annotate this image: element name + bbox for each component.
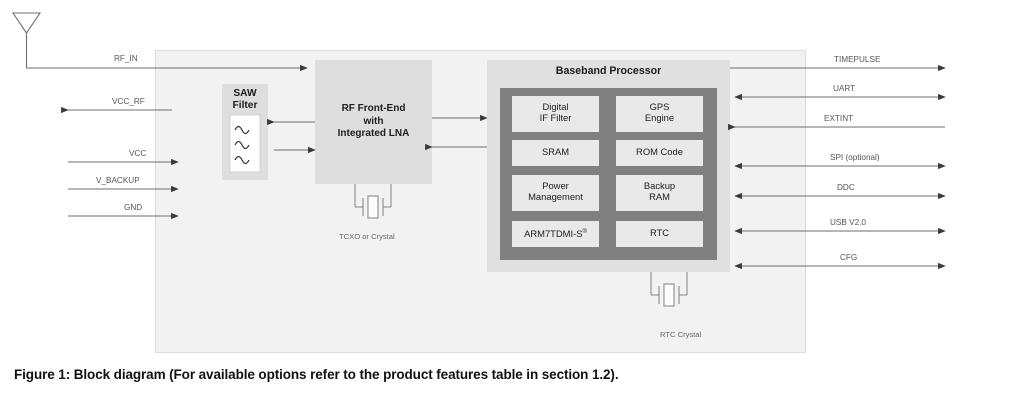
signal-label-spi: SPI (optional)	[830, 153, 880, 162]
subblock-line1: ARM7TDMI-S	[524, 228, 582, 239]
subblock-label-gps-engine: GPS Engine	[616, 101, 703, 123]
subblock-line1: ROM Code	[616, 146, 703, 157]
signal-label-vcc-rf: VCC_RF	[112, 97, 145, 106]
subblock-label-power-management: Power Management	[510, 180, 601, 202]
saw-filter-label: SAW Filter	[222, 88, 268, 112]
subblock-line1: Backup	[616, 180, 703, 191]
rf-frontend-line1: RF Front-End	[315, 103, 432, 116]
rf-frontend-line2: with	[315, 116, 432, 129]
subblock-line2: Engine	[616, 112, 703, 123]
subblock-line2: RAM	[616, 191, 703, 202]
registered-mark-icon: ®	[582, 229, 586, 235]
block-diagram-figure: RF_IN VCC_RF VCC V_BACKUP GND TIMEPULSE …	[0, 0, 1027, 405]
subblock-line1: RTC	[616, 227, 703, 238]
subblock-line1: Power	[510, 180, 601, 191]
subblock-label-rom-code: ROM Code	[616, 146, 703, 157]
subblock-line2: Management	[510, 191, 601, 202]
signal-label-extint: EXTINT	[824, 114, 853, 123]
subblock-line1: Digital	[512, 101, 599, 112]
tcxo-crystal-label: TCXO or Crystal	[339, 232, 395, 241]
signal-label-vcc: VCC	[129, 149, 146, 158]
figure-caption: Figure 1: Block diagram (For available o…	[14, 367, 1014, 382]
signal-label-uart: UART	[833, 84, 855, 93]
signal-label-ddc: DDC	[837, 183, 855, 192]
subblock-label-arm7tdmi-s: ARM7TDMI-S®	[512, 227, 599, 239]
subblock-label-backup-ram: Backup RAM	[616, 180, 703, 202]
saw-filter-line2: Filter	[222, 100, 268, 112]
subblock-line1: SRAM	[512, 146, 599, 157]
saw-filter-line1: SAW	[222, 88, 268, 100]
subblock-line1: GPS	[616, 101, 703, 112]
subblock-label-digital-if-filter: Digital IF Filter	[512, 101, 599, 123]
signal-label-timepulse: TIMEPULSE	[834, 55, 880, 64]
rf-frontend-label: RF Front-End with Integrated LNA	[315, 103, 432, 141]
rf-frontend-line3: Integrated LNA	[315, 128, 432, 141]
signal-label-rf-in: RF_IN	[114, 54, 138, 63]
rtc-crystal-label: RTC Crystal	[660, 330, 701, 339]
subblock-label-sram: SRAM	[512, 146, 599, 157]
antenna-icon	[13, 13, 40, 68]
subblock-line2: IF Filter	[512, 112, 599, 123]
baseband-processor-title: Baseband Processor	[487, 65, 730, 77]
signal-label-gnd: GND	[124, 203, 142, 212]
signal-label-usb: USB V2.0	[830, 218, 866, 227]
signal-label-cfg: CFG	[840, 253, 857, 262]
subblock-label-rtc: RTC	[616, 227, 703, 238]
signal-label-v-backup: V_BACKUP	[96, 176, 140, 185]
